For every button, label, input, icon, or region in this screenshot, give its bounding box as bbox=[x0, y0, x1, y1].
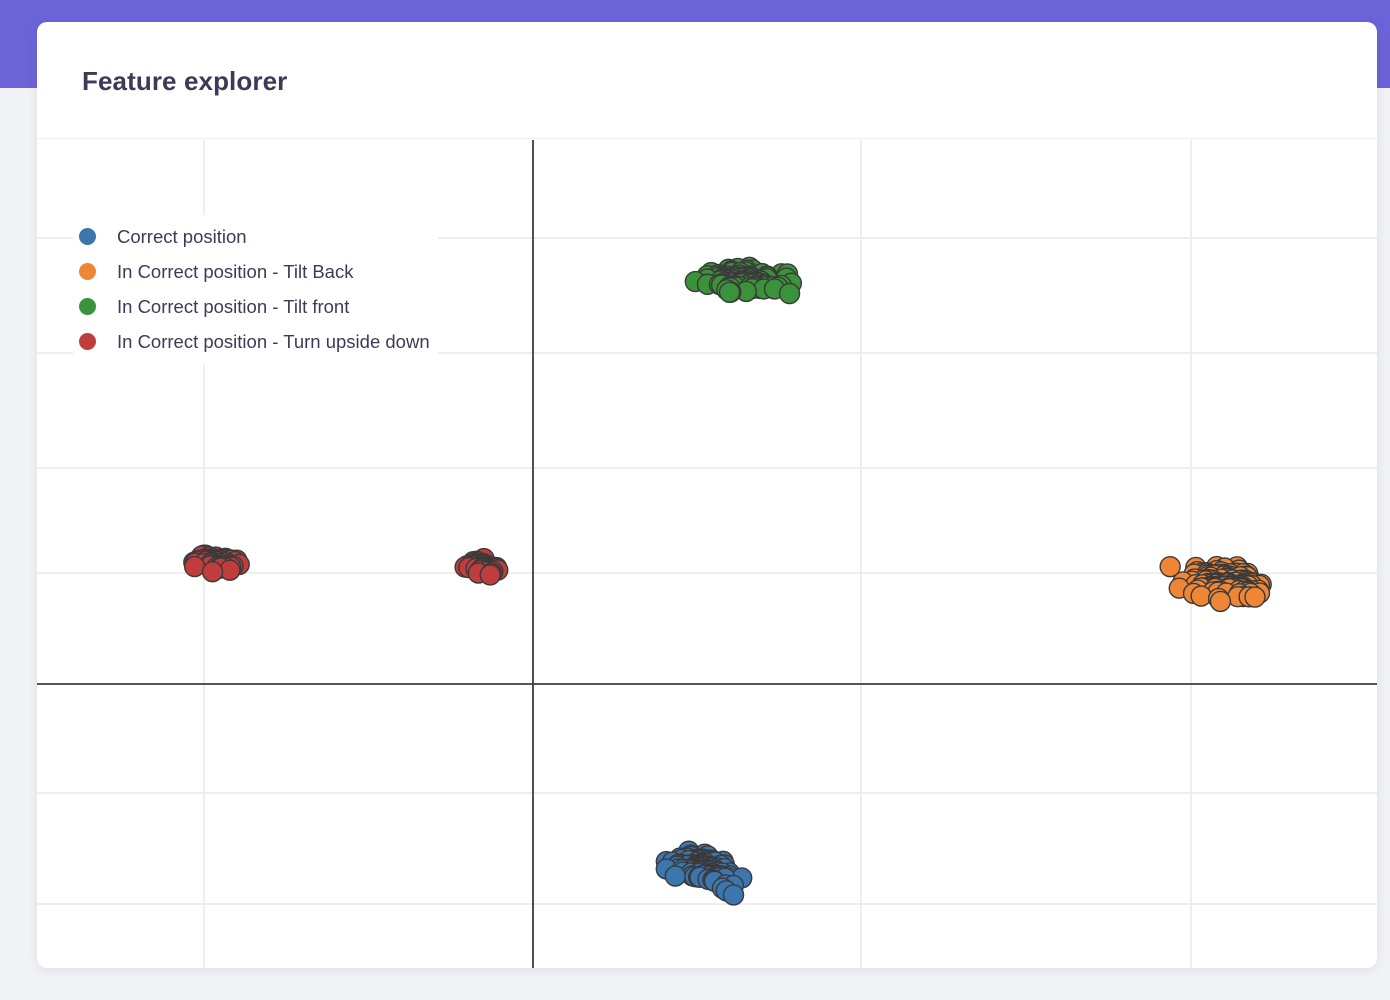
page-title: Feature explorer bbox=[82, 66, 287, 97]
card-header: Feature explorer bbox=[37, 22, 1377, 139]
legend-label-tilt-back: In Correct position - Tilt Back bbox=[117, 261, 353, 283]
legend-swatch-tilt-front bbox=[79, 298, 96, 315]
legend-item[interactable]: In Correct position - Tilt front bbox=[79, 289, 430, 324]
legend-swatch-tilt-back bbox=[79, 263, 96, 280]
legend-item[interactable]: In Correct position - Tilt Back bbox=[79, 254, 430, 289]
plot-legend: Correct position In Correct position - T… bbox=[73, 215, 438, 365]
legend-swatch-correct-position bbox=[79, 228, 96, 245]
legend-label-correct-position: Correct position bbox=[117, 226, 247, 248]
legend-item[interactable]: In Correct position - Turn upside down bbox=[79, 324, 430, 359]
scatter-plot-area[interactable]: Correct position In Correct position - T… bbox=[37, 140, 1377, 968]
legend-swatch-turn-upside-down bbox=[79, 333, 96, 350]
feature-explorer-card: Feature explorer Correct position In Cor… bbox=[37, 22, 1377, 968]
legend-item[interactable]: Correct position bbox=[79, 219, 430, 254]
legend-label-turn-upside-down: In Correct position - Turn upside down bbox=[117, 331, 430, 353]
legend-label-tilt-front: In Correct position - Tilt front bbox=[117, 296, 349, 318]
